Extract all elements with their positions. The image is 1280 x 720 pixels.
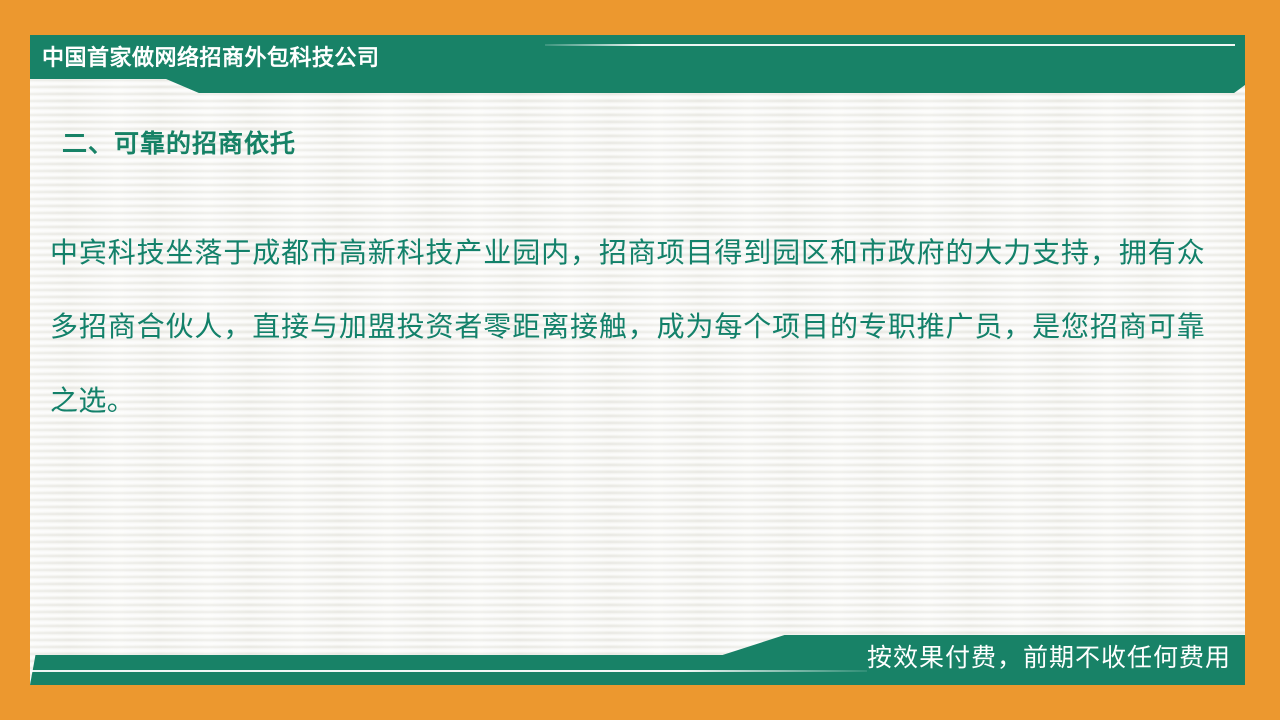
footer-divider-line [32,670,867,672]
body-paragraph: 中宾科技坐落于成都市高新科技产业园内，招商项目得到园区和市政府的大力支持，拥有众… [50,216,1205,438]
section-heading: 二、可靠的招商依托 [62,124,296,160]
footer-tagline: 按效果付费，前期不收任何费用 [867,637,1231,677]
slide-content: 二、可靠的招商依托 中宾科技坐落于成都市高新科技产业园内，招商项目得到园区和市政… [30,93,1245,623]
header-banner: 中国首家做网络招商外包科技公司 [30,35,1245,93]
slide-root: 中国首家做网络招商外包科技公司 二、可靠的招商依托 中宾科技坐落于成都市高新科技… [0,0,1280,720]
footer-banner: 按效果付费，前期不收任何费用 [30,623,1245,685]
header-title: 中国首家做网络招商外包科技公司 [42,35,380,79]
header-divider-line [545,44,1235,46]
